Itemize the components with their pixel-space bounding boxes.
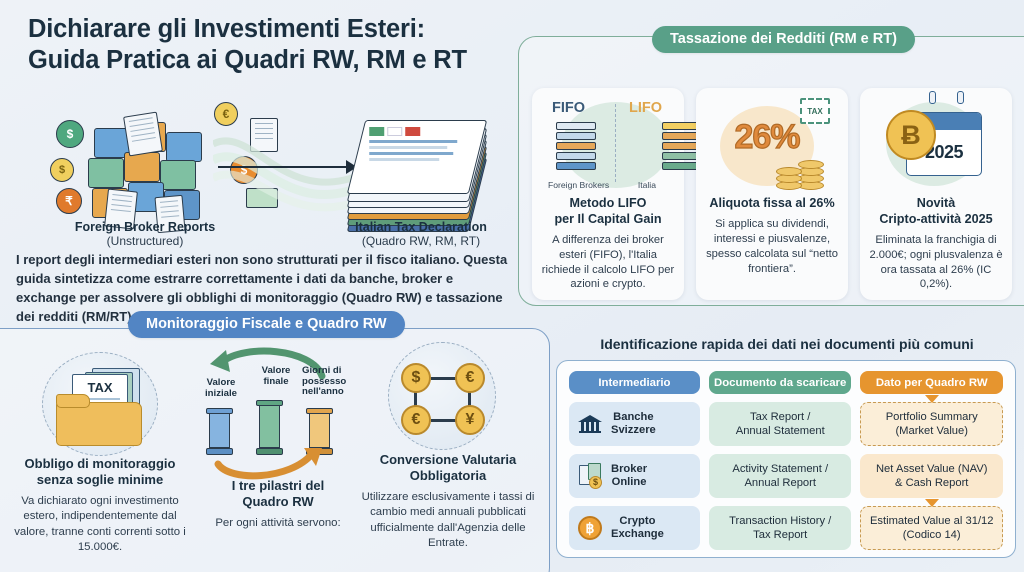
lifo-label: LIFO bbox=[629, 100, 662, 116]
table-header-intermediario: Intermediario bbox=[569, 371, 700, 394]
mcol-3-body: Utilizzare esclusivamente i tassi di cam… bbox=[348, 490, 548, 552]
bank-icon bbox=[577, 411, 603, 437]
identification-table: Intermediario Documento da scaricare Dat… bbox=[556, 360, 1016, 558]
row-2-data-l2: & Cash Report bbox=[895, 477, 968, 489]
orange-curved-arrow-icon bbox=[212, 446, 332, 482]
row-2-intermediary: $ Broker Online bbox=[569, 454, 700, 498]
coin-dollar-icon: $ bbox=[401, 363, 431, 393]
table-title: Identificazione rapida dei dati nei docu… bbox=[556, 336, 1018, 352]
pillar-1-label-l1: Valore bbox=[207, 377, 236, 388]
page-title: Dichiarare gli Investimenti Esteri: Guid… bbox=[28, 14, 528, 76]
mcol-3-title-line-1: Conversione Valutaria bbox=[380, 452, 517, 467]
fifo-sub-caption: Foreign Brokers bbox=[548, 180, 609, 190]
card-cripto-2025[interactable]: 2025 Ƀ Novità Cripto-attività 2025 Elimi… bbox=[860, 88, 1012, 300]
row-2-data-l1: Net Asset Value (NAV) bbox=[876, 463, 988, 475]
quick-identification-section: Identificazione rapida dei dati nei docu… bbox=[556, 336, 1024, 564]
mcol-2-body: Per ogni attività servono: bbox=[188, 516, 368, 532]
monitoring-columns-group: TAX Obbligo di monitoraggio senza soglie… bbox=[0, 322, 540, 572]
tax-declaration-stack-icon bbox=[356, 114, 486, 226]
flow-arrow-shaft bbox=[218, 166, 348, 168]
mcol-3-title-line-2: Obbligatoria bbox=[410, 468, 487, 483]
broker-doc-icon: $ bbox=[577, 463, 603, 489]
card-3-title-line-1: Novità bbox=[917, 196, 956, 210]
row-2-document-l2: Annual Report bbox=[744, 477, 816, 489]
row-3-intermediary: ฿ Crypto Exchange bbox=[569, 506, 700, 550]
three-pillars-art: Valore iniziale Valore finale Giorni di … bbox=[188, 342, 368, 460]
table-row[interactable]: Banche Svizzere Tax Report / Annual Stat… bbox=[569, 402, 1003, 446]
coin-usd-green-icon: $ bbox=[56, 120, 84, 148]
bitcoin-icon: ฿ bbox=[577, 515, 603, 541]
pillar-2-label-l2: finale bbox=[263, 376, 288, 387]
taxation-cards-group: FIFO LIFO Foreign Brokers Ital bbox=[518, 32, 1024, 304]
row-1-document-l1: Tax Report / bbox=[750, 411, 810, 423]
mcol-1-title-line-1: Obbligo di monitoraggio bbox=[25, 456, 176, 471]
tax-stamp-icon: TAX bbox=[800, 98, 830, 124]
row-1-data: Portfolio Summary (Market Value) bbox=[860, 402, 1003, 446]
flow-wave-decoration bbox=[213, 120, 363, 220]
coin-usd-yellow-icon: $ bbox=[50, 158, 74, 182]
hero-left-caption-title: Foreign Broker Reports bbox=[30, 220, 260, 234]
row-1-document-l2: Annual Statement bbox=[736, 425, 825, 437]
unstructured-cube-icon bbox=[80, 118, 210, 226]
tax-doc-label: TAX bbox=[73, 380, 127, 395]
pillar-1-label-l2: iniziale bbox=[205, 388, 237, 399]
card-1-title-line-1: Metodo LIFO bbox=[570, 196, 647, 210]
row-2-document-l1: Activity Statement / bbox=[732, 463, 828, 475]
row-1-intermediary-l2: Svizzere bbox=[611, 424, 656, 436]
tax-folder-art: TAX bbox=[0, 350, 200, 456]
pillar-3-label-l3: nell'anno bbox=[302, 386, 344, 397]
monitoring-col-conversione[interactable]: $ € € ¥ Conversione Valutaria Obbligator… bbox=[348, 340, 548, 552]
table-header-dato: Dato per Quadro RW bbox=[860, 371, 1003, 394]
row-2-intermediary-l2: Online bbox=[612, 476, 647, 488]
row-2-intermediary-l1: Broker bbox=[611, 463, 647, 475]
row-3-document: Transaction History / Tax Report bbox=[709, 506, 851, 550]
currency-conversion-art: $ € € ¥ bbox=[348, 340, 548, 452]
tax-rate-art: 26% TAX bbox=[704, 96, 840, 194]
row-2-document: Activity Statement / Annual Report bbox=[709, 454, 852, 498]
hero-right-caption-title: Italian Tax Declaration bbox=[306, 220, 536, 234]
card-2-body: Si applica su dividendi, interessi e piu… bbox=[704, 217, 840, 277]
hero-left-caption-sub: (Unstructured) bbox=[30, 234, 260, 248]
coin-yen-icon: ¥ bbox=[455, 405, 485, 435]
title-line-1: Dichiarare gli Investimenti Esteri: bbox=[28, 15, 425, 43]
pillar-2-label-l1: Valore bbox=[262, 365, 291, 376]
mcol-1-body: Va dichiarato ogni investimento estero, … bbox=[0, 494, 200, 556]
card-3-title-line-2: Cripto-attività 2025 bbox=[879, 212, 992, 226]
row-3-data-l1: Estimated Value al 31/12 bbox=[870, 515, 994, 527]
card-aliquota-26[interactable]: 26% TAX Aliquota fissa al 26% Si applica… bbox=[696, 88, 848, 300]
pillar-3-label-l2: possesso bbox=[302, 376, 346, 387]
coin-stack-icon bbox=[768, 148, 824, 190]
crypto-2025-art: 2025 Ƀ bbox=[868, 96, 1004, 194]
monitoring-col-pilastri[interactable]: Valore iniziale Valore finale Giorni di … bbox=[188, 342, 368, 531]
row-1-data-l1: Portfolio Summary bbox=[886, 411, 978, 423]
pillar-3-label-l1: Giorni di bbox=[302, 365, 341, 376]
coin-rupee-icon: ₹ bbox=[56, 188, 82, 214]
row-2-data: Net Asset Value (NAV) & Cash Report bbox=[860, 454, 1003, 498]
row-1-intermediary: Banche Svizzere bbox=[569, 402, 700, 446]
card-metodo-lifo[interactable]: FIFO LIFO Foreign Brokers Ital bbox=[532, 88, 684, 300]
coin-euro-icon-3: € bbox=[401, 405, 431, 435]
table-header-documento: Documento da scaricare bbox=[709, 371, 852, 394]
card-1-title-line-2: per Il Capital Gain bbox=[554, 212, 661, 226]
row-3-intermediary-l1: Crypto bbox=[619, 515, 655, 527]
table-header-row: Intermediario Documento da scaricare Dat… bbox=[569, 371, 1003, 394]
card-2-title: Aliquota fissa al 26% bbox=[709, 196, 834, 210]
row-1-intermediary-l1: Banche bbox=[613, 411, 653, 423]
row-3-document-l1: Transaction History / bbox=[729, 515, 831, 527]
infographic-canvas: Dichiarare gli Investimenti Esteri: Guid… bbox=[0, 0, 1024, 572]
row-3-intermediary-l2: Exchange bbox=[611, 528, 664, 540]
table-row[interactable]: $ Broker Online Activity Statement / Ann… bbox=[569, 454, 1003, 498]
table-row[interactable]: ฿ Crypto Exchange Transaction History / … bbox=[569, 506, 1003, 550]
hero-right-caption-sub: (Quadro RW, RM, RT) bbox=[306, 234, 536, 248]
row-3-document-l2: Tax Report bbox=[753, 529, 807, 541]
row-1-document: Tax Report / Annual Statement bbox=[709, 402, 851, 446]
fifo-lifo-art: FIFO LIFO Foreign Brokers Ital bbox=[540, 96, 676, 194]
coin-euro-icon-2: € bbox=[455, 363, 485, 393]
bitcoin-coin-icon: Ƀ bbox=[886, 110, 936, 160]
mcol-1-title-line-2: senza soglie minime bbox=[37, 472, 163, 487]
mcol-2-title-line-2: Quadro RW bbox=[242, 494, 313, 509]
lifo-sub-caption: Italia bbox=[638, 180, 656, 190]
card-3-body: Eliminata la franchigia di 2.000€; ogni … bbox=[868, 233, 1004, 293]
fifo-label: FIFO bbox=[552, 100, 585, 116]
monitoring-col-obbligo[interactable]: TAX Obbligo di monitoraggio senza soglie… bbox=[0, 350, 200, 556]
row-3-data: Estimated Value al 31/12 (Codico 14) bbox=[860, 506, 1003, 550]
card-1-body: A differenza dei broker esteri (FIFO), l… bbox=[540, 233, 676, 293]
title-line-2: Guida Pratica ai Quadri RW, RM e RT bbox=[28, 45, 528, 76]
row-3-data-l2: (Codico 14) bbox=[903, 529, 961, 541]
row-1-data-l2: (Market Value) bbox=[895, 425, 968, 437]
hero-illustration: $ $ ₹ € $ bbox=[18, 100, 518, 250]
